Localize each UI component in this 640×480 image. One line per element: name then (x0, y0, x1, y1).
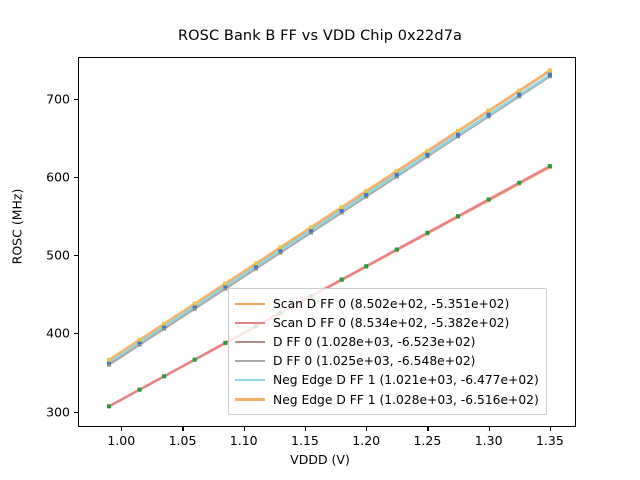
data-point-marker (309, 225, 313, 229)
data-point-marker (456, 214, 460, 218)
data-point-marker (395, 247, 399, 251)
x-tick-label: 1.10 (214, 433, 274, 448)
y-tick-label: 500 (26, 248, 70, 263)
x-tick-mark (121, 427, 122, 431)
data-point-marker (456, 129, 460, 133)
data-point-marker (364, 264, 368, 268)
legend-item[interactable]: Neg Edge D FF 1 (1.028e+03, -6.516e+02) (235, 390, 539, 409)
legend-color-swatch (235, 398, 265, 400)
x-tick-label: 1.00 (91, 433, 151, 448)
data-point-marker (548, 164, 552, 168)
data-point-marker (107, 358, 111, 362)
data-point-marker (517, 93, 521, 97)
legend-item[interactable]: Scan D FF 0 (8.502e+02, -5.351e+02) (235, 294, 539, 313)
x-tick-label: 1.05 (152, 433, 212, 448)
data-point-marker (425, 231, 429, 235)
y-tick-label: 300 (26, 404, 70, 419)
legend-color-swatch (235, 379, 265, 381)
data-point-marker (254, 261, 258, 265)
x-axis-label: VDDD (V) (0, 452, 640, 467)
data-point-marker (162, 374, 166, 378)
x-tick-mark (305, 427, 306, 431)
x-tick-label: 1.25 (397, 433, 457, 448)
data-point-marker (548, 68, 552, 72)
legend-label: Scan D FF 0 (8.534e+02, -5.382e+02) (273, 316, 509, 330)
data-point-marker (487, 197, 491, 201)
chart-legend[interactable]: Scan D FF 0 (8.502e+02, -5.351e+02)Scan … (228, 288, 547, 415)
data-point-marker (223, 281, 227, 285)
legend-item[interactable]: D FF 0 (1.028e+03, -6.523e+02) (235, 332, 539, 351)
y-axis-label: ROSC (MHz) (10, 127, 25, 327)
data-point-marker (395, 173, 399, 177)
legend-item[interactable]: Scan D FF 0 (8.534e+02, -5.382e+02) (235, 313, 539, 332)
data-point-marker (517, 89, 521, 93)
data-point-marker (340, 209, 344, 213)
x-tick-mark (244, 427, 245, 431)
x-tick-label: 1.20 (336, 433, 396, 448)
data-point-marker (107, 404, 111, 408)
legend-label: D FF 0 (1.025e+03, -6.548e+02) (273, 354, 475, 368)
y-tick-label: 700 (26, 91, 70, 106)
x-tick-mark (366, 427, 367, 431)
legend-color-swatch (235, 341, 265, 343)
x-tick-label: 1.15 (275, 433, 335, 448)
data-point-marker (278, 245, 282, 249)
x-tick-mark (489, 427, 490, 431)
legend-label: Neg Edge D FF 1 (1.028e+03, -6.516e+02) (273, 393, 539, 407)
data-point-marker (548, 73, 552, 77)
chart-title: ROSC Bank B FF vs VDD Chip 0x22d7a (0, 28, 640, 44)
data-point-marker (395, 169, 399, 173)
data-point-marker (138, 338, 142, 342)
x-tick-mark (550, 427, 551, 431)
legend-item[interactable]: Neg Edge D FF 1 (1.021e+03, -6.477e+02) (235, 371, 539, 390)
data-point-marker (193, 358, 197, 362)
data-point-marker (364, 192, 368, 196)
legend-color-swatch (235, 303, 265, 305)
data-point-marker (223, 341, 227, 345)
data-point-marker (487, 109, 491, 113)
x-tick-mark (427, 427, 428, 431)
data-point-marker (425, 153, 429, 157)
data-point-marker (138, 388, 142, 392)
x-tick-mark (182, 427, 183, 431)
legend-color-swatch (235, 360, 265, 362)
legend-item[interactable]: D FF 0 (1.025e+03, -6.548e+02) (235, 352, 539, 371)
legend-label: Scan D FF 0 (8.502e+02, -5.351e+02) (273, 297, 509, 311)
legend-label: Neg Edge D FF 1 (1.021e+03, -6.477e+02) (273, 373, 539, 387)
legend-color-swatch (235, 322, 265, 324)
data-point-marker (193, 302, 197, 306)
x-tick-label: 1.35 (520, 433, 580, 448)
data-point-marker (340, 205, 344, 209)
data-point-marker (425, 149, 429, 153)
data-point-marker (487, 113, 491, 117)
y-tick-label: 400 (26, 326, 70, 341)
chart-figure: ROSC Bank B FF vs VDD Chip 0x22d7a ROSC … (0, 0, 640, 480)
x-tick-label: 1.30 (459, 433, 519, 448)
data-point-marker (162, 322, 166, 326)
data-point-marker (456, 133, 460, 137)
data-point-marker (517, 181, 521, 185)
data-point-marker (340, 278, 344, 282)
legend-label: D FF 0 (1.028e+03, -6.523e+02) (273, 335, 475, 349)
y-tick-label: 600 (26, 169, 70, 184)
data-point-marker (364, 189, 368, 193)
